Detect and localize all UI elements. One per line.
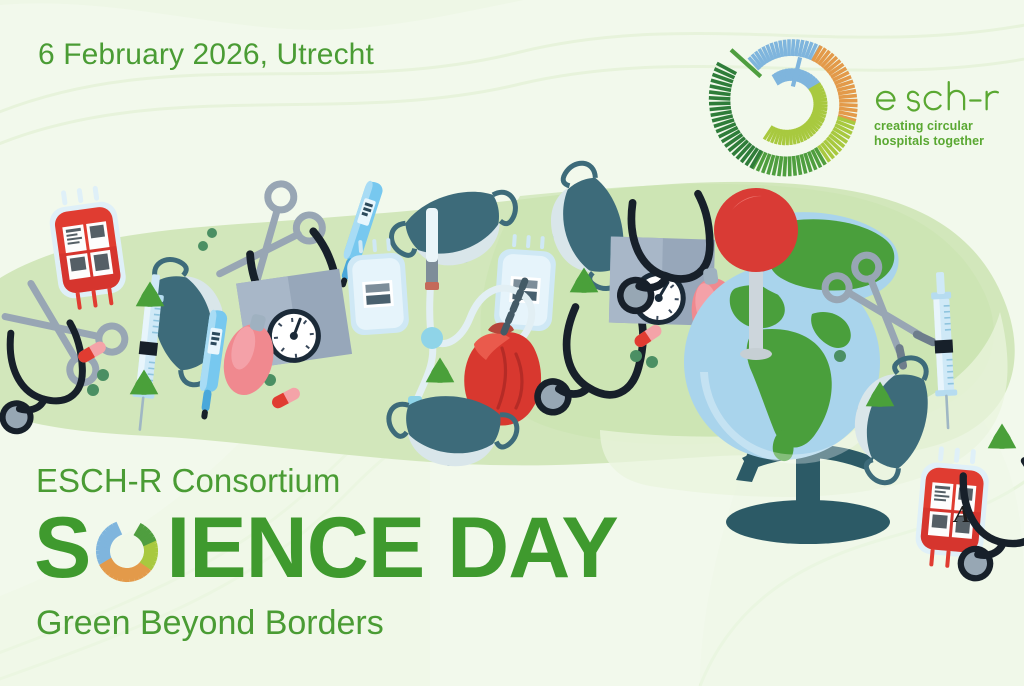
- esch-r-logo[interactable]: creating circular hospitals together: [706, 22, 1006, 182]
- science-c-circular-mark: [90, 507, 164, 595]
- recycle-symbol: [983, 424, 1020, 456]
- blood-bag: [46, 186, 129, 310]
- title-rest: IENCE DAY: [166, 500, 617, 596]
- globe: [684, 212, 899, 544]
- logo-tagline: creating circular hospitals together: [874, 119, 1009, 149]
- logo-tagline-line2: hospitals together: [874, 134, 984, 148]
- page-title: S IENCE DAY: [34, 500, 618, 596]
- esch-r-wordmark: [874, 78, 1002, 118]
- pill-capsule: [270, 386, 302, 411]
- eyebrow-text: ESCH-R Consortium: [36, 462, 340, 500]
- event-date-location: 6 February 2026, Utrecht: [38, 38, 374, 72]
- recycle-symbol: [565, 268, 602, 300]
- science-day-banner: A 6 February 2026, Utrecht: [0, 0, 1024, 686]
- logo-tagline-line1: creating circular: [874, 119, 973, 133]
- esch-r-spiral-mark: [706, 22, 876, 182]
- title-letter-s: S: [34, 500, 90, 596]
- syringe: [929, 272, 959, 429]
- subtitle-text: Green Beyond Borders: [36, 604, 384, 643]
- tablet-pill: [834, 350, 846, 362]
- pill-capsule: [632, 323, 664, 350]
